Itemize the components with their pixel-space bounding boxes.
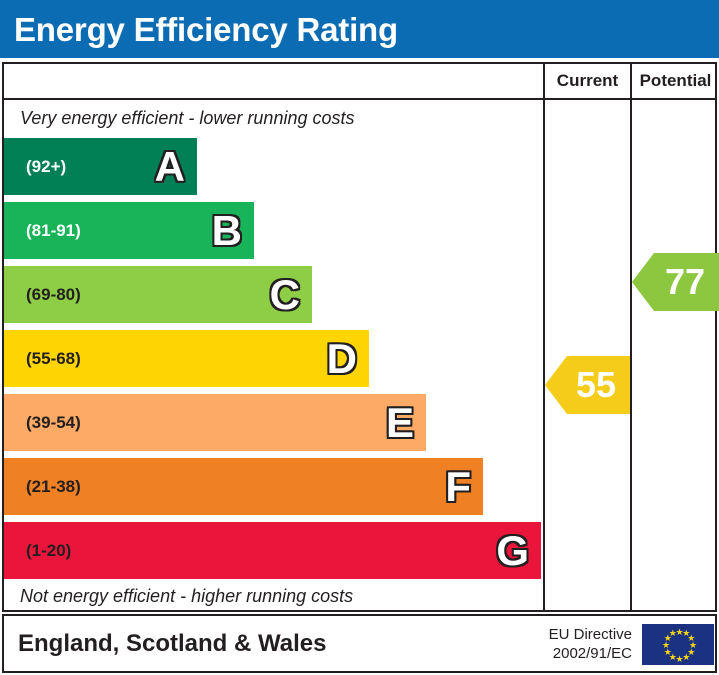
band-row-g: (1-20) G [4,522,541,579]
band-row-f: (21-38) F [4,458,483,515]
band-range-f: (21-38) [26,478,81,495]
band-range-c: (69-80) [26,286,81,303]
band-row-e: (39-54) E [4,394,426,451]
band-range-d: (55-68) [26,350,81,367]
band-letter-b: B [212,210,242,252]
band-row-d: (55-68) D [4,330,369,387]
chart-footer: England, Scotland & Wales EU Directive 2… [2,614,717,673]
band-letter-d: D [327,338,357,380]
band-letter-f: F [445,466,471,508]
page-title: Energy Efficiency Rating [14,13,398,46]
caption-inefficient: Not energy efficient - higher running co… [20,586,353,607]
energy-efficiency-rating-chart: Energy Efficiency Rating Current Potenti… [0,0,719,675]
column-header-potential: Potential [632,71,719,91]
band-row-b: (81-91) B [4,202,254,259]
band-letter-c: C [270,274,300,316]
directive-line-1: EU Directive [524,626,632,645]
potential-rating-arrow: 77 [632,253,719,311]
eu-flag-star: ★ [669,630,676,637]
band-letter-e: E [386,402,414,444]
directive-line-2: 2002/91/EC [524,645,632,664]
caption-efficient: Very energy efficient - lower running co… [20,108,355,129]
band-range-g: (1-20) [26,542,71,559]
band-range-b: (81-91) [26,222,81,239]
band-range-a: (92+) [26,158,66,175]
chart-title-bar: Energy Efficiency Rating [0,0,719,58]
column-divider-potential [630,64,632,610]
current-rating-arrow: 55 [545,356,630,414]
footer-region-label: England, Scotland & Wales [18,630,326,658]
eu-flag-star: ★ [662,642,669,649]
column-divider-current [543,64,545,610]
band-letter-a: A [155,146,185,188]
rating-table: Current Potential Very energy efficient … [2,62,717,612]
band-row-c: (69-80) C [4,266,312,323]
column-header-current: Current [545,71,630,91]
eu-flag-icon: ★★★★★★★★★★★★ [641,623,715,666]
current-rating-value: 55 [576,367,616,403]
band-row-a: (92+) A [4,138,197,195]
band-letter-g: G [496,530,529,572]
band-range-e: (39-54) [26,414,81,431]
footer-directive-label: EU Directive 2002/91/EC [524,626,632,664]
potential-rating-value: 77 [665,264,705,300]
